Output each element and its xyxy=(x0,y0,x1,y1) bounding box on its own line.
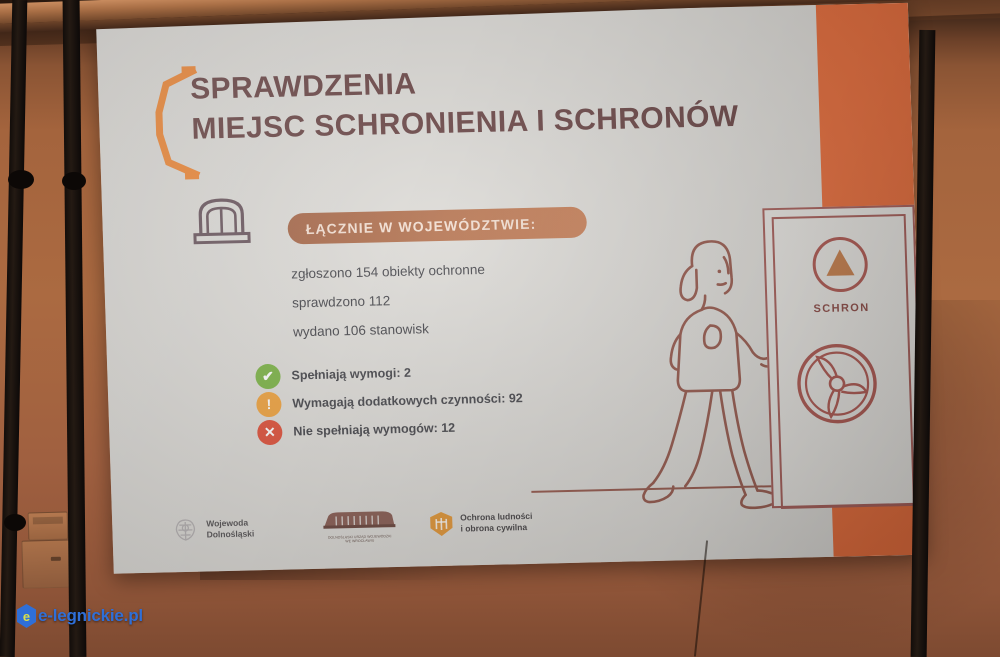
status-label: Wymagają dodatkowych czynności: 92 xyxy=(292,391,523,410)
logo-ochrona-ludnosci: Ochrona ludności i obrona cywilna xyxy=(428,508,533,538)
logo-ochrona-text: Ochrona ludności i obrona cywilna xyxy=(460,511,533,535)
polish-eagle-emblem xyxy=(170,516,201,545)
logo-wojewoda-text: Wojewoda Dolnośląski xyxy=(206,517,254,541)
status-label: Spełniają wymogi: 2 xyxy=(291,366,411,383)
shelter-door: SCHRON xyxy=(762,205,924,508)
valve-wheel-icon xyxy=(793,340,882,428)
cross-icon: ✕ xyxy=(257,419,283,445)
tripod-knob-lower xyxy=(4,514,26,531)
logo-line-2: i obrona cywilna xyxy=(460,522,533,535)
watermark-hexagon-icon: e xyxy=(16,604,37,628)
logo-wojewoda: Wojewoda Dolnośląski xyxy=(170,514,255,544)
site-watermark: e e-legnickie.pl xyxy=(16,604,143,628)
status-list: ✔ Spełniają wymogi: 2 ! Wymagają dodatko… xyxy=(255,353,678,447)
summary-banner: ŁĄCZNIE W WOJEWÓDZTWIE: xyxy=(287,207,587,245)
logo-duw-caption: DOLNOŚLĄSKI URZĄD WOJEWÓDZKI WE WROCŁAWI… xyxy=(319,534,401,544)
slide-footer-logos: Wojewoda Dolnośląski DOLNOŚLĄSKI URZĄD W… xyxy=(170,497,592,559)
screenshot-stage: SPRAWDZENIA MIEJSC SCHRONIENIA I SCHRONÓ… xyxy=(0,0,1000,657)
watermark-letter: e xyxy=(16,604,37,628)
presentation-slide: SPRAWDZENIA MIEJSC SCHRONIENIA I SCHRONÓ… xyxy=(96,3,926,574)
duw-building-emblem xyxy=(318,507,401,531)
summary-banner-label: ŁĄCZNIE W WOJEWÓDZTWIE: xyxy=(306,215,537,236)
bunker-icon xyxy=(190,193,254,246)
shelter-triangle-icon xyxy=(809,234,871,295)
tripod-knob-upper-left xyxy=(8,170,34,189)
civil-defence-shield-emblem xyxy=(428,510,455,539)
check-icon: ✔ xyxy=(255,363,281,389)
exclamation-icon: ! xyxy=(256,391,282,417)
status-label: Nie spełniają wymogów: 12 xyxy=(293,421,455,439)
slide-title: SPRAWDZENIA MIEJSC SCHRONIENIA I SCHRONÓ… xyxy=(190,54,852,149)
projection-screen: SPRAWDZENIA MIEJSC SCHRONIENIA I SCHRONÓ… xyxy=(96,3,926,574)
watermark-text: e-legnickie.pl xyxy=(38,606,143,626)
logo-line-2: Dolnośląski xyxy=(206,528,254,540)
logo-duw: DOLNOŚLĄSKI URZĄD WOJEWÓDZKI WE WROCŁAWI… xyxy=(318,507,401,544)
stats-list: zgłoszono 154 obiekty ochronne sprawdzon… xyxy=(291,251,634,346)
wall-light-switch xyxy=(28,511,69,540)
tripod-knob-upper-right xyxy=(62,172,86,190)
